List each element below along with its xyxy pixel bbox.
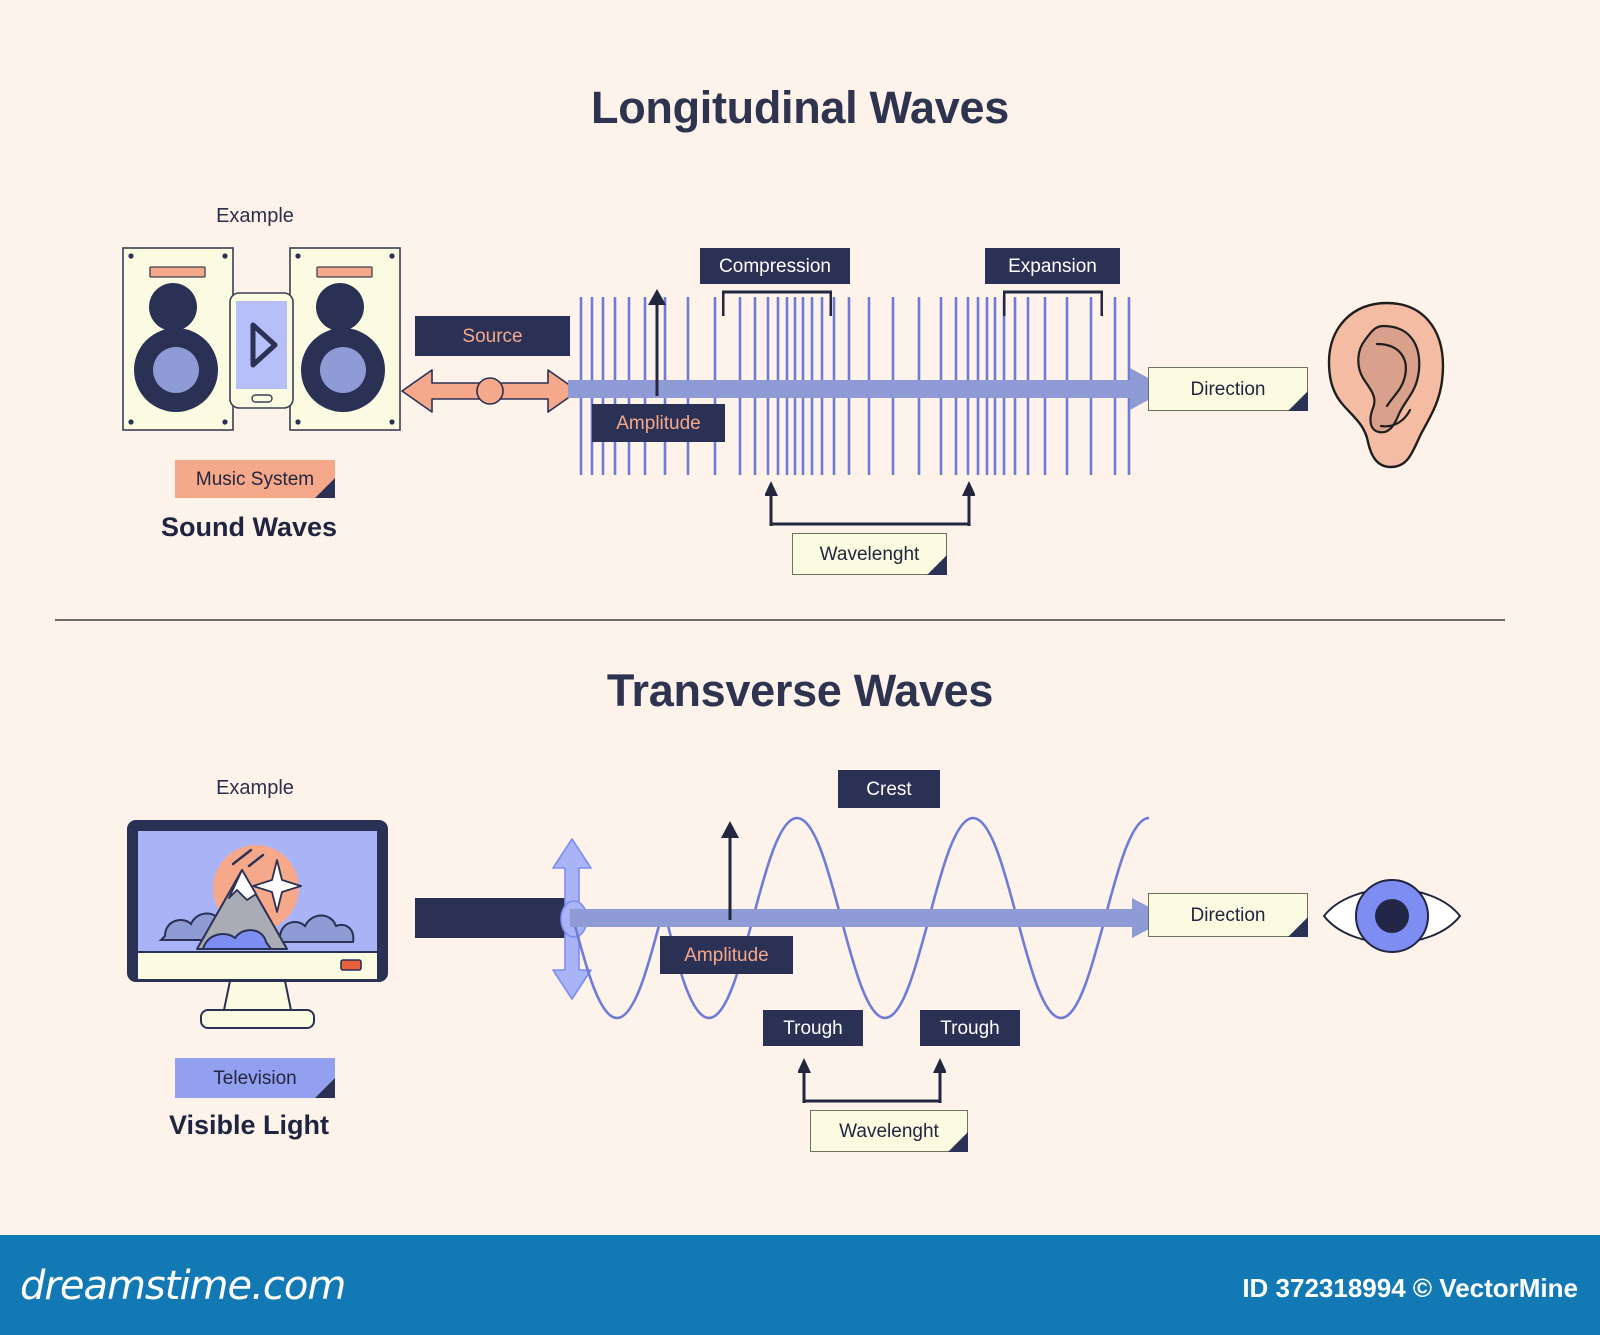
longitudinal-amplitude-tag: Amplitude bbox=[592, 404, 725, 442]
transverse-direction-arrow-icon bbox=[570, 898, 1170, 938]
fold-corner-icon bbox=[927, 555, 947, 575]
television-tag: Television bbox=[175, 1058, 335, 1098]
dreamstime-brand: dreamstime.com bbox=[20, 1263, 345, 1309]
trough-tag-1: Trough bbox=[763, 1010, 863, 1046]
music-system-tag: Music System bbox=[175, 460, 335, 498]
transverse-wavelength-tag-label: Wavelenght bbox=[810, 1110, 968, 1152]
fold-corner-icon bbox=[315, 1078, 335, 1098]
longitudinal-wavelength-bracket-icon bbox=[765, 478, 975, 526]
footer-bar: dreamstime.com ID 372318994 © VectorMine bbox=[0, 1235, 1600, 1335]
diagram-stage: Longitudinal Waves Example Music System … bbox=[0, 0, 1600, 1230]
expansion-tag: Expansion bbox=[985, 248, 1120, 284]
source-tag: Source bbox=[415, 316, 570, 356]
image-credit: ID 372318994 © VectorMine bbox=[1242, 1273, 1578, 1304]
crest-tag: Crest bbox=[838, 770, 940, 808]
television-illustration bbox=[125, 818, 390, 1033]
music-system-tag-label: Music System bbox=[175, 460, 335, 498]
longitudinal-amplitude-arrow-icon bbox=[645, 288, 669, 396]
longitudinal-example-label: Example bbox=[160, 205, 350, 228]
fold-corner-icon bbox=[1288, 917, 1308, 937]
longitudinal-wavelength-tag-label: Wavelenght bbox=[792, 533, 947, 575]
compression-tag: Compression bbox=[700, 248, 850, 284]
sound-waves-caption: Sound Waves bbox=[118, 512, 380, 543]
ear-icon bbox=[1325, 300, 1450, 470]
television-tag-label: Television bbox=[175, 1058, 335, 1098]
longitudinal-direction-tag-label: Direction bbox=[1148, 367, 1308, 411]
source-oscillation-arrow-icon bbox=[400, 365, 580, 417]
fold-corner-icon bbox=[1288, 391, 1308, 411]
transverse-wavelength-tag: Wavelenght bbox=[810, 1110, 968, 1152]
expansion-bracket-icon bbox=[1003, 290, 1103, 316]
longitudinal-direction-tag: Direction bbox=[1148, 367, 1308, 411]
eye-icon bbox=[1322, 876, 1462, 956]
trough-tag-2: Trough bbox=[920, 1010, 1020, 1046]
transverse-amplitude-arrow-icon bbox=[718, 820, 742, 920]
transverse-amplitude-tag: Amplitude bbox=[660, 936, 793, 974]
compression-bracket-icon bbox=[722, 290, 832, 316]
transverse-example-label: Example bbox=[160, 777, 350, 800]
fold-corner-icon bbox=[315, 478, 335, 498]
fold-corner-icon bbox=[948, 1132, 968, 1152]
transverse-direction-tag: Direction bbox=[1148, 893, 1308, 937]
longitudinal-title: Longitudinal Waves bbox=[0, 82, 1600, 134]
visible-light-caption: Visible Light bbox=[118, 1110, 380, 1141]
transverse-title: Transverse Waves bbox=[0, 665, 1600, 717]
transverse-direction-tag-label: Direction bbox=[1148, 893, 1308, 937]
longitudinal-wavelength-tag: Wavelenght bbox=[792, 533, 947, 575]
music-system-illustration bbox=[118, 245, 408, 435]
transverse-wavelength-bracket-icon bbox=[798, 1055, 946, 1103]
section-divider bbox=[55, 619, 1505, 621]
